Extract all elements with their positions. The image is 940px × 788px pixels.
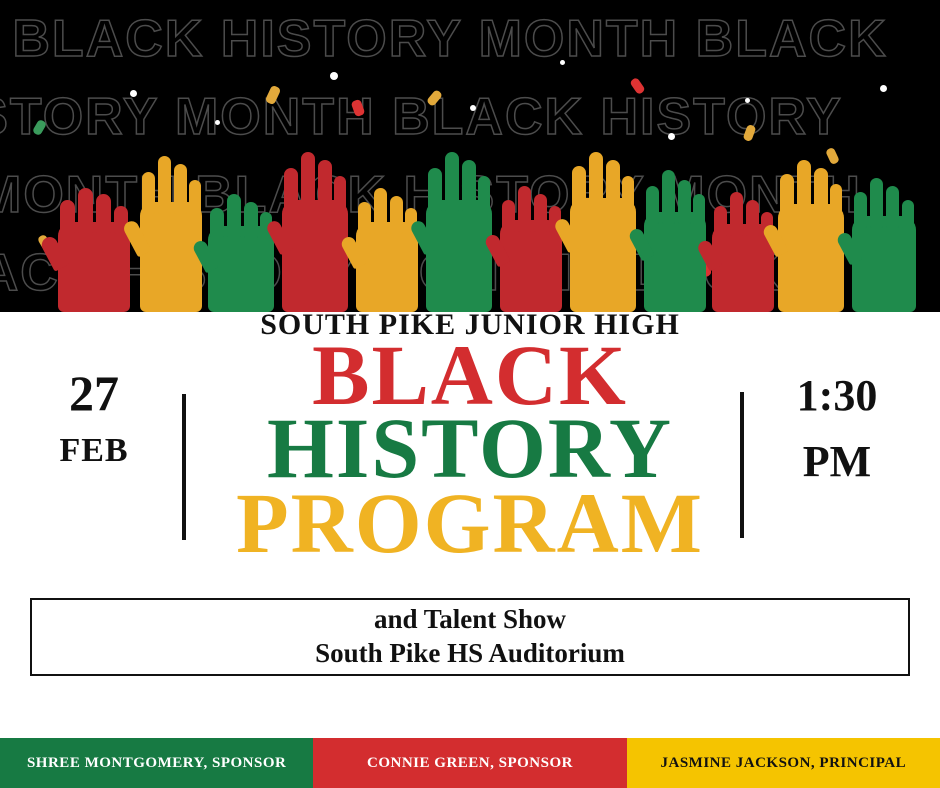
confetti-dot xyxy=(560,60,565,65)
footer-cell-sponsor-1: Shree Montgomery, Sponsor xyxy=(0,738,313,788)
event-time-period: PM xyxy=(752,440,922,484)
hand xyxy=(778,150,844,312)
footer-cell-sponsor-2: Connie Green, Sponsor xyxy=(313,738,626,788)
event-day: 27 xyxy=(24,368,164,418)
event-title: BLACK HISTORY PROGRAM xyxy=(150,336,790,563)
event-subtitle: and Talent Show xyxy=(374,603,566,637)
confetti-dot xyxy=(330,72,338,80)
hand xyxy=(282,142,348,312)
event-venue: South Pike HS Auditorium xyxy=(315,637,625,671)
time-block: 1:30 PM xyxy=(752,374,922,484)
raised-hands-illustration xyxy=(0,112,940,312)
poster: BLACK HISTORY MONTH BLACK HISTORY MONTH … xyxy=(0,0,940,788)
hand xyxy=(500,182,562,312)
hand xyxy=(852,172,916,312)
hand xyxy=(58,187,130,312)
title-line-program: PROGRAM xyxy=(150,484,790,563)
header-banner: BLACK HISTORY MONTH BLACK HISTORY MONTH … xyxy=(0,0,940,312)
footer-cell-principal: Jasmine Jackson, Principal xyxy=(627,738,940,788)
hand xyxy=(712,188,774,312)
hand xyxy=(426,142,492,312)
hand xyxy=(644,162,706,312)
main-content: SOUTH PIKE JUNIOR HIGH 27 FEB BLACK HIST… xyxy=(0,312,940,732)
event-month: FEB xyxy=(24,434,164,468)
confetti-dot xyxy=(880,85,887,92)
hand xyxy=(140,147,202,312)
hand xyxy=(356,184,418,312)
event-details-box: and Talent Show South Pike HS Auditorium xyxy=(30,598,910,676)
event-time: 1:30 xyxy=(752,374,922,418)
hand xyxy=(208,192,274,312)
hand xyxy=(570,140,636,312)
confetti-dot xyxy=(745,98,750,103)
confetti-dot xyxy=(470,105,476,111)
date-block: 27 FEB xyxy=(24,368,164,468)
divider-right xyxy=(740,392,744,538)
footer-bar: Shree Montgomery, Sponsor Connie Green, … xyxy=(0,738,940,788)
pattern-line: BLACK HISTORY MONTH BLACK xyxy=(0,0,940,78)
confetti-dot xyxy=(130,90,137,97)
